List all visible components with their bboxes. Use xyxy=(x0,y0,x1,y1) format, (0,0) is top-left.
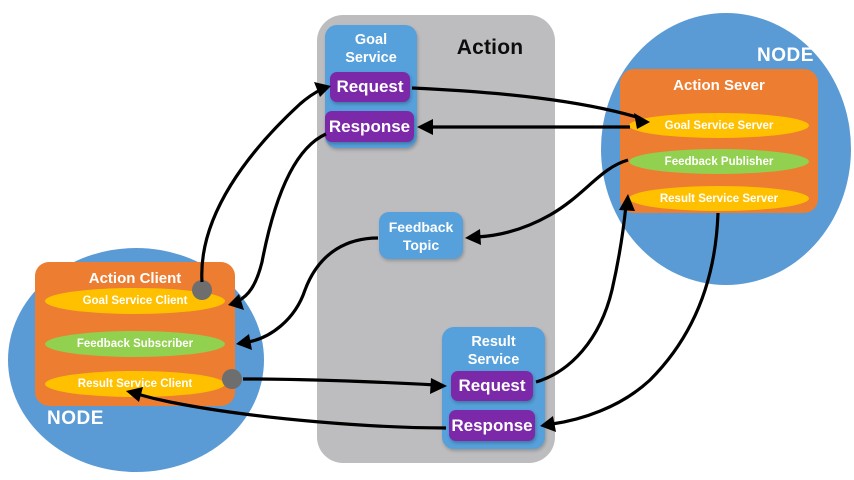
arrow-goalclient-to-request xyxy=(202,82,331,282)
result-service-title: Result Service xyxy=(442,333,545,369)
action-panel-title: Action xyxy=(430,36,550,60)
result-service-title-line1: Result xyxy=(471,334,515,350)
client-node-label: NODE xyxy=(47,408,104,430)
connector-dot-result-client xyxy=(222,369,242,389)
goal-service-request[interactable]: Request xyxy=(330,72,410,102)
feedback-topic-title-line2: Topic xyxy=(403,237,439,253)
result-service-request[interactable]: Request xyxy=(451,371,533,401)
goal-service-title-line2: Service xyxy=(345,50,397,66)
result-service-response[interactable]: Response xyxy=(449,410,535,441)
pill-result-service-server[interactable]: Result Service Server xyxy=(629,186,809,211)
feedback-topic-box[interactable]: Feedback Topic xyxy=(379,212,463,259)
feedback-topic-title: Feedback Topic xyxy=(379,218,463,254)
result-service-title-line2: Service xyxy=(468,352,520,368)
feedback-topic-title-line1: Feedback xyxy=(389,219,454,235)
goal-service-title: Goal Service xyxy=(325,31,417,67)
pill-goal-service-server[interactable]: Goal Service Server xyxy=(629,113,809,138)
connector-dot-goal-client xyxy=(192,280,212,300)
pill-result-service-client[interactable]: Result Service Client xyxy=(45,371,225,397)
pill-feedback-subscriber[interactable]: Feedback Subscriber xyxy=(45,331,225,357)
goal-service-title-line1: Goal xyxy=(355,32,387,48)
pill-feedback-publisher[interactable]: Feedback Publisher xyxy=(629,149,809,174)
action-server-title: Action Sever xyxy=(620,77,818,94)
arrow-response-to-goalclient xyxy=(228,134,326,310)
diagram-canvas: Action Action Client Action Sever Goal S… xyxy=(0,0,854,480)
goal-service-response[interactable]: Response xyxy=(325,111,414,142)
server-node-label: NODE xyxy=(757,45,814,67)
